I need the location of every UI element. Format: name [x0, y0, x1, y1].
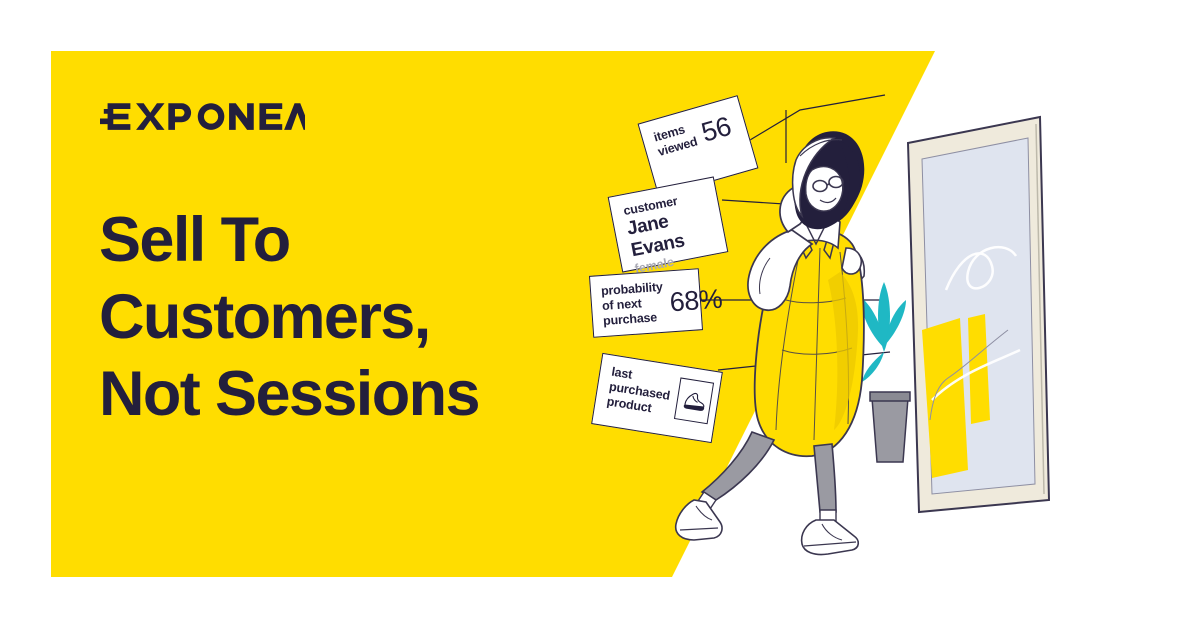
probability-label-3: purchase: [603, 310, 666, 329]
card-probability-of-next-purchase[interactable]: probability of next purchase 68%: [589, 268, 703, 338]
last-product-thumbnail: [674, 377, 714, 424]
card-customer[interactable]: customer Jane Evans female: [608, 176, 729, 272]
card-last-purchased-product[interactable]: last purchased product: [591, 353, 723, 443]
items-viewed-value: 56: [698, 112, 734, 147]
data-cards: items viewed 56 customer Jane Evans fema…: [0, 0, 1200, 628]
marketing-banner: Sell To Customers, Not Sessions: [0, 0, 1200, 628]
sneaker-icon: [678, 384, 710, 416]
probability-value: 68%: [669, 284, 723, 316]
